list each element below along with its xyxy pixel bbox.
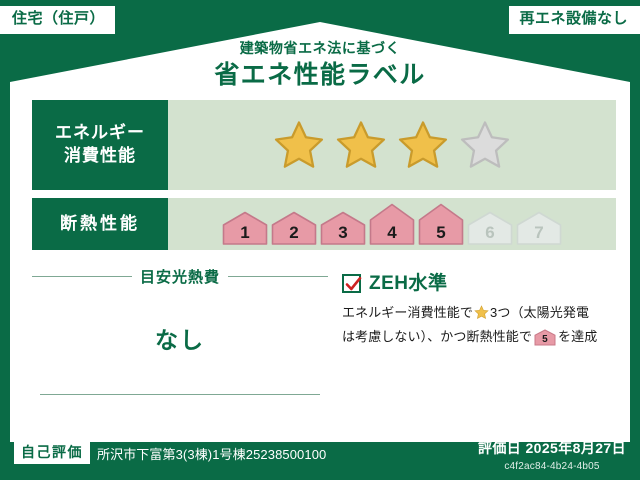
house-level-value: 5	[418, 224, 464, 241]
house-level-value: 6	[467, 224, 513, 241]
evaluation-date: 評価日 2025年8月27日	[478, 438, 626, 458]
house-icon-inline-value: 5	[534, 335, 556, 345]
house-level-active: 3	[320, 211, 366, 245]
zeh-section: ZEH水準 エネルギー消費性能で3つ（太陽光発電は考慮しない）、かつ断熱性能で5…	[342, 274, 616, 348]
utility-cost-header: 目安光熱費	[32, 266, 328, 287]
energy-performance-label: 住宅（住戸） 再エネ設備なし 建築物省エネ法に基づく 省エネ性能ラベル エネルギ…	[0, 0, 640, 480]
page-title: 省エネ性能ラベル	[0, 60, 640, 91]
star-icon-filled	[397, 120, 449, 170]
house-level-value: 7	[516, 224, 562, 241]
utility-cost-bottom-rule	[40, 394, 320, 395]
rule-right	[228, 276, 328, 277]
house-level-value: 4	[369, 224, 415, 241]
house-level-value: 3	[320, 224, 366, 241]
house-level-active: 4	[369, 203, 415, 245]
evaluation-date-value: 2025年8月27日	[525, 440, 626, 456]
house-level-active: 5	[418, 203, 464, 245]
lower-section: 目安光熱費 なし ZEH水準 エネルギー消費性能で3つ（太陽光発電は考慮しな	[32, 260, 616, 436]
star-icon-filled	[273, 120, 325, 170]
footer-left: 自己評価 所沢市下富第3(3棟)1号棟25238500100	[14, 442, 326, 464]
house-level-active: 1	[222, 211, 268, 245]
insulation-performance-label: 断熱性能	[32, 198, 168, 250]
rule-left	[32, 276, 132, 277]
badge-renewable-energy: 再エネ設備なし	[509, 6, 640, 34]
insulation-performance-value: 1234567	[168, 198, 616, 250]
badge-dwelling-type: 住宅（住戸）	[0, 6, 115, 34]
property-address: 所沢市下富第3(3棟)1号棟25238500100	[97, 444, 326, 463]
energy-performance-value	[168, 100, 616, 190]
house-level-value: 2	[271, 224, 317, 241]
check-icon	[345, 276, 362, 293]
zeh-desc-part3: を達成	[558, 329, 597, 344]
energy-performance-label: エネルギー 消費性能	[32, 100, 168, 190]
zeh-title: ZEH水準	[369, 274, 448, 293]
document-hash: c4f2ac84-4b24-4b05	[478, 461, 626, 472]
utility-cost-title: 目安光熱費	[140, 266, 220, 287]
zeh-desc-part2: は考慮しない）、かつ断熱性能で	[342, 329, 532, 344]
header-subtitle: 建築物省エネ法に基づく	[0, 40, 640, 57]
house-level-inactive: 6	[467, 211, 513, 245]
zeh-desc-part1: エネルギー消費性能で	[342, 305, 473, 320]
evaluation-date-label: 評価日	[478, 440, 521, 456]
label-content: エネルギー 消費性能 断熱性能 1234567 目安光熱費 なし	[22, 100, 618, 436]
house-rating-scale: 1234567	[222, 203, 562, 245]
star-icon-filled	[335, 120, 387, 170]
zeh-header: ZEH水準	[342, 274, 616, 293]
header-title-block: 建築物省エネ法に基づく 省エネ性能ラベル	[0, 40, 640, 91]
star-icon-empty	[459, 120, 511, 170]
zeh-desc-star-count: 3つ（太陽光発電	[490, 305, 589, 320]
label-footer: 自己評価 所沢市下富第3(3棟)1号棟25238500100 評価日 2025年…	[0, 436, 640, 480]
house-level-inactive: 7	[516, 211, 562, 245]
energy-performance-label-line1: エネルギー	[55, 122, 145, 145]
house-level-active: 2	[271, 211, 317, 245]
utility-cost-value: なし	[32, 321, 328, 355]
utility-cost-section: 目安光熱費 なし	[32, 260, 328, 436]
energy-performance-label-line2: 消費性能	[64, 145, 136, 168]
insulation-performance-row: 断熱性能 1234567	[32, 198, 616, 250]
footer-right: 評価日 2025年8月27日 c4f2ac84-4b24-4b05	[478, 438, 626, 472]
house-level-value: 1	[222, 224, 268, 241]
energy-performance-row: エネルギー 消費性能	[32, 100, 616, 190]
star-icon-inline	[474, 308, 489, 323]
evaluation-type-badge: 自己評価	[14, 442, 90, 464]
star-rating	[273, 120, 511, 170]
zeh-checkbox[interactable]	[342, 274, 361, 293]
zeh-description: エネルギー消費性能で3つ（太陽光発電は考慮しない）、かつ断熱性能で5を達成	[342, 302, 616, 348]
house-icon-inline: 5	[534, 329, 556, 346]
